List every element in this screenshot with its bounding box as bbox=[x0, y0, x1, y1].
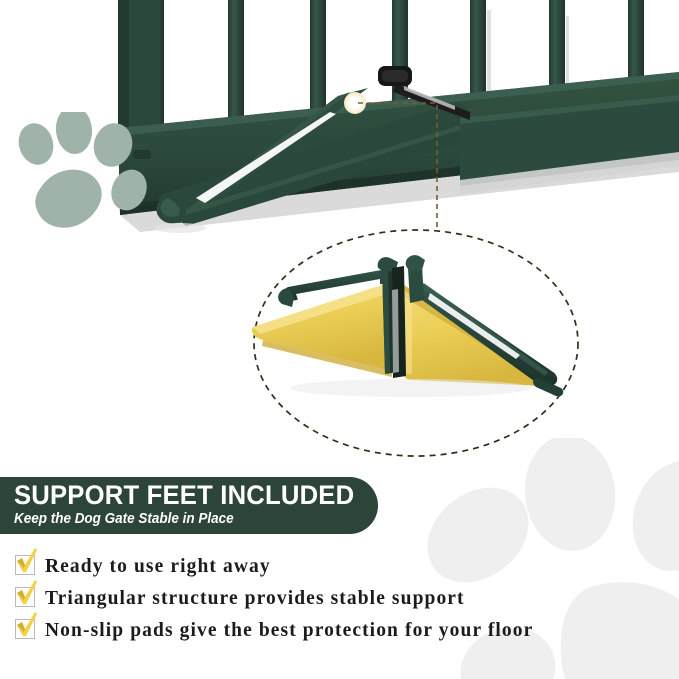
product-photo bbox=[0, 0, 679, 470]
checkbox-box[interactable] bbox=[15, 619, 35, 639]
list-item: Non-slip pads give the best protection f… bbox=[0, 616, 679, 646]
rail-foot-nub bbox=[133, 150, 151, 159]
list-item-label: Ready to use right away bbox=[45, 552, 271, 581]
product-infographic: SUPPORT FEET INCLUDED Keep the Dog Gate … bbox=[0, 0, 679, 679]
checkbox-box[interactable] bbox=[15, 555, 35, 575]
list-item-label: Non-slip pads give the best protection f… bbox=[45, 616, 533, 645]
gate-illustration bbox=[0, 0, 679, 470]
checkbox-box[interactable] bbox=[15, 587, 35, 607]
list-item: Triangular structure provides stable sup… bbox=[0, 584, 679, 614]
feature-list: Ready to use right away Triangular struc… bbox=[0, 552, 679, 648]
list-item: Ready to use right away bbox=[0, 552, 679, 582]
list-item-label: Triangular structure provides stable sup… bbox=[45, 584, 465, 613]
banner-title: SUPPORT FEET INCLUDED bbox=[14, 480, 354, 510]
headline-banner: SUPPORT FEET INCLUDED Keep the Dog Gate … bbox=[0, 477, 378, 534]
banner-subtitle: Keep the Dog Gate Stable in Place bbox=[14, 510, 234, 528]
